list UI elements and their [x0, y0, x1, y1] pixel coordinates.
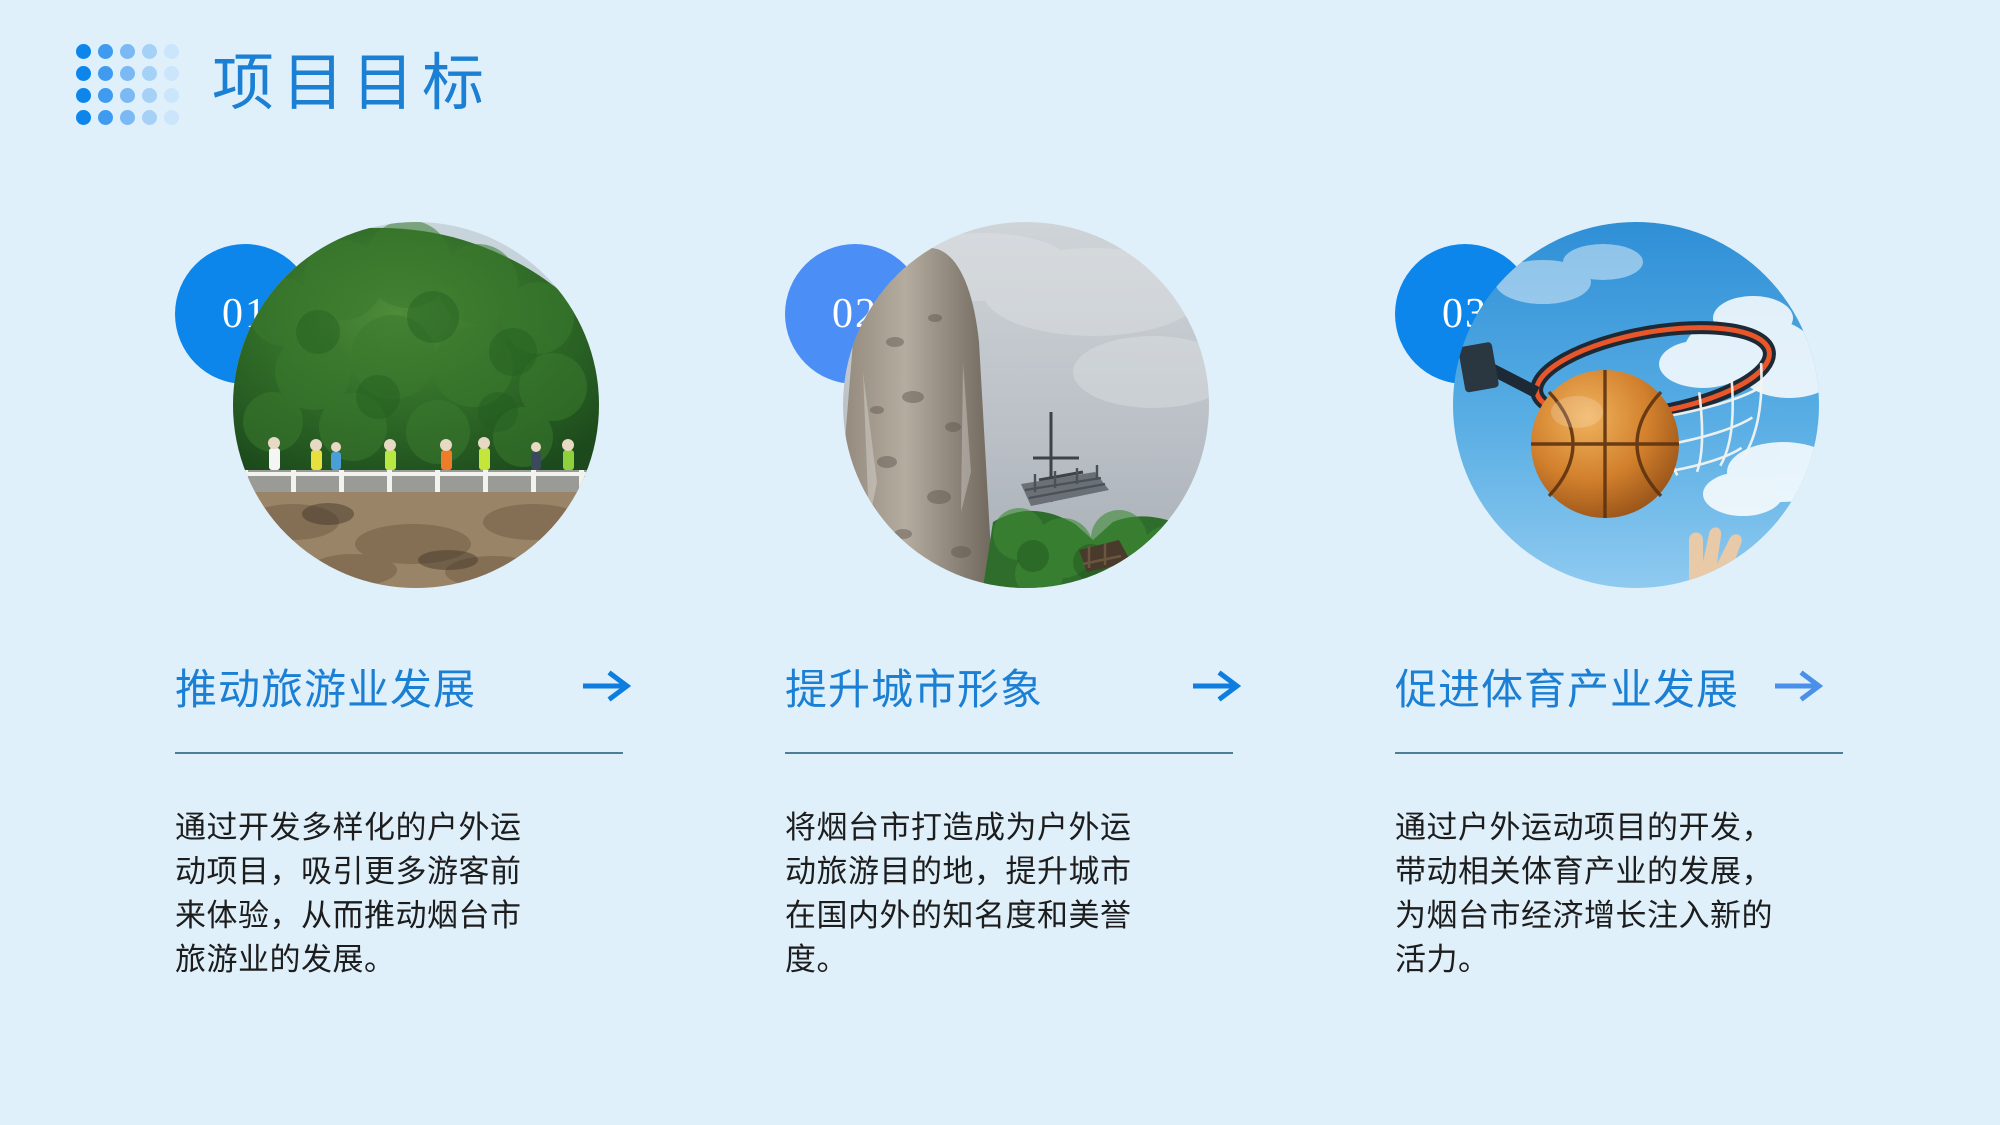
goal-card: 03 [1395, 222, 1865, 982]
card-heading-row: 促进体育产业发展 [1395, 654, 1865, 718]
card-heading-row: 推动旅游业发展 [175, 654, 645, 718]
card-divider [175, 752, 623, 754]
card-heading: 推动旅游业发展 [175, 656, 476, 717]
card-heading-row: 提升城市形象 [785, 654, 1255, 718]
goal-card-list: 01 [0, 0, 2000, 1125]
card-media: 01 [175, 222, 645, 622]
card-divider [1395, 752, 1843, 754]
arrow-right-icon[interactable] [1775, 666, 1827, 706]
card-media: 02 [785, 222, 1255, 622]
card-heading: 促进体育产业发展 [1395, 656, 1739, 717]
mountain-rock-viewing-platform-photo [843, 222, 1209, 588]
arrow-right-icon[interactable] [1193, 666, 1245, 706]
slide-root: 项目目标 01 [0, 0, 2000, 1125]
basketball-hoop-sky-photo [1453, 222, 1819, 588]
coastal-cycling-road-photo [233, 222, 599, 588]
goal-card: 01 [175, 222, 645, 982]
card-heading: 提升城市形象 [785, 656, 1043, 717]
card-divider [785, 752, 1233, 754]
card-body-text: 通过开发多样化的户外运动项目，吸引更多游客前来体验，从而推动烟台市旅游业的发展。 [175, 806, 545, 982]
goal-card: 02 [785, 222, 1255, 982]
card-media: 03 [1395, 222, 1865, 622]
card-body-text: 将烟台市打造成为户外运动旅游目的地，提升城市在国内外的知名度和美誉度。 [785, 806, 1155, 982]
card-body-text: 通过户外运动项目的开发，带动相关体育产业的发展，为烟台市经济增长注入新的活力。 [1395, 806, 1795, 982]
arrow-right-icon[interactable] [583, 666, 635, 706]
